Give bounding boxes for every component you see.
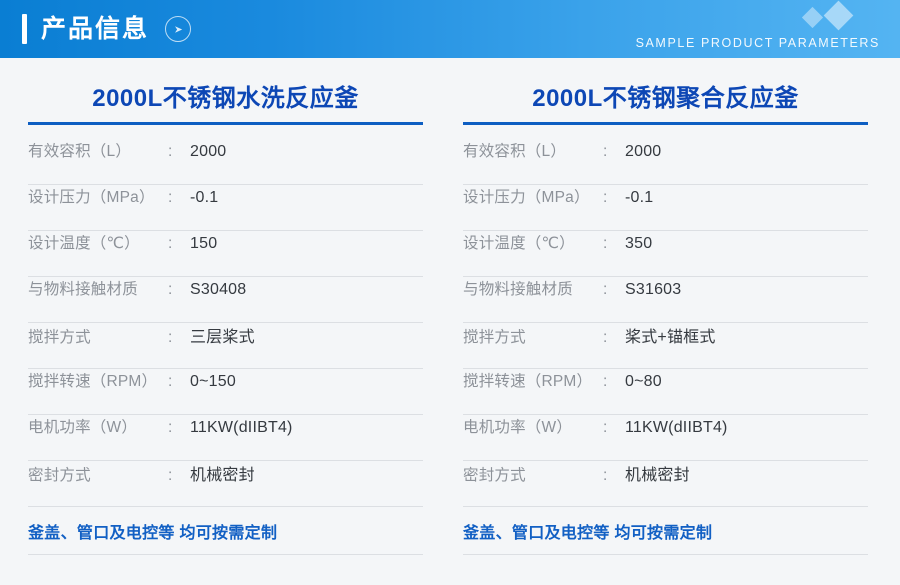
page-title: 产品信息 [41, 17, 149, 42]
spec-value: 0~150 [190, 373, 236, 391]
table-row: 与物料接触材质 : S31603 [463, 277, 868, 323]
spec-value: 三层桨式 [190, 323, 255, 347]
spec-colon: : [603, 373, 625, 391]
spec-colon: : [603, 329, 625, 347]
table-row: 搅拌转速（RPM） : 0~150 [28, 369, 423, 415]
spec-colon: : [603, 281, 625, 299]
spec-value: 11KW(dIIBT4) [625, 419, 728, 437]
spec-label: 搅拌转速（RPM） [463, 369, 603, 391]
table-row: 搅拌方式 : 桨式+锚框式 [463, 323, 868, 369]
play-arrow-icon[interactable] [165, 16, 191, 42]
table-row: 电机功率（W） : 11KW(dIIBT4) [28, 415, 423, 461]
spec-value: S30408 [190, 281, 246, 299]
table-row: 有效容积（L） : 2000 [28, 139, 423, 185]
spec-colon: : [603, 143, 625, 161]
spec-colon: : [168, 467, 190, 485]
spec-columns-container: 2000L不锈钢水洗反应釜 有效容积（L） : 2000 设计压力（MPa） :… [0, 58, 900, 555]
spec-title-left: 2000L不锈钢水洗反应釜 [28, 58, 423, 122]
table-row: 设计压力（MPa） : -0.1 [28, 185, 423, 231]
spec-label: 密封方式 [28, 463, 168, 485]
spec-value: -0.1 [190, 189, 218, 207]
spec-value: 桨式+锚框式 [625, 323, 716, 347]
customization-note-left: 釜盖、管口及电控等 均可按需定制 [28, 507, 423, 555]
spec-label: 搅拌方式 [463, 325, 603, 347]
spec-title-underline-left [28, 122, 423, 125]
spec-value: 机械密封 [625, 461, 690, 485]
spec-value: 0~80 [625, 373, 662, 391]
spec-value: 2000 [190, 143, 226, 161]
spec-colon: : [168, 373, 190, 391]
spec-title-right: 2000L不锈钢聚合反应釜 [463, 58, 868, 122]
table-row: 搅拌方式 : 三层桨式 [28, 323, 423, 369]
table-row: 密封方式 : 机械密封 [28, 461, 423, 507]
spec-label: 与物料接触材质 [463, 277, 603, 299]
spec-value: 11KW(dIIBT4) [190, 419, 293, 437]
table-row: 密封方式 : 机械密封 [463, 461, 868, 507]
spec-label: 电机功率（W） [28, 415, 168, 437]
table-row: 设计温度（℃） : 150 [28, 231, 423, 277]
spec-title-underline-right [463, 122, 868, 125]
customization-note-right: 釜盖、管口及电控等 均可按需定制 [463, 507, 868, 555]
spec-colon: : [168, 281, 190, 299]
spec-value: 2000 [625, 143, 661, 161]
spec-colon: : [168, 329, 190, 347]
spec-value: 机械密封 [190, 461, 255, 485]
spec-value: S31603 [625, 281, 681, 299]
spec-label: 设计温度（℃） [463, 231, 603, 253]
spec-label: 有效容积（L） [28, 139, 168, 161]
spec-value: -0.1 [625, 189, 653, 207]
table-row: 与物料接触材质 : S30408 [28, 277, 423, 323]
table-row: 电机功率（W） : 11KW(dIIBT4) [463, 415, 868, 461]
diamond-decoration-icon [803, 4, 863, 30]
spec-label: 与物料接触材质 [28, 277, 168, 299]
spec-colon: : [168, 143, 190, 161]
spec-label: 设计压力（MPa） [28, 185, 168, 207]
header-left-group: 产品信息 [22, 0, 191, 58]
spec-colon: : [168, 189, 190, 207]
spec-label: 有效容积（L） [463, 139, 603, 161]
spec-colon: : [603, 419, 625, 437]
spec-label: 电机功率（W） [463, 415, 603, 437]
spec-label: 设计温度（℃） [28, 231, 168, 253]
spec-label: 搅拌转速（RPM） [28, 369, 168, 391]
table-row: 有效容积（L） : 2000 [463, 139, 868, 185]
diamond-small-icon [802, 7, 823, 28]
spec-colon: : [603, 235, 625, 253]
page-header: 产品信息 SAMPLE PRODUCT PARAMETERS [0, 0, 900, 58]
spec-colon: : [168, 235, 190, 253]
diamond-large-icon [824, 1, 854, 31]
table-row: 设计压力（MPa） : -0.1 [463, 185, 868, 231]
spec-colon: : [603, 189, 625, 207]
spec-colon: : [603, 467, 625, 485]
header-subtitle: SAMPLE PRODUCT PARAMETERS [636, 36, 880, 50]
table-row: 搅拌转速（RPM） : 0~80 [463, 369, 868, 415]
spec-column-right: 2000L不锈钢聚合反应釜 有效容积（L） : 2000 设计压力（MPa） :… [450, 58, 900, 555]
spec-label: 设计压力（MPa） [463, 185, 603, 207]
spec-colon: : [168, 419, 190, 437]
spec-label: 密封方式 [463, 463, 603, 485]
header-accent-bar [22, 14, 27, 44]
spec-value: 350 [625, 235, 652, 253]
table-row: 设计温度（℃） : 350 [463, 231, 868, 277]
spec-column-left: 2000L不锈钢水洗反应釜 有效容积（L） : 2000 设计压力（MPa） :… [0, 58, 450, 555]
spec-value: 150 [190, 235, 217, 253]
spec-label: 搅拌方式 [28, 325, 168, 347]
